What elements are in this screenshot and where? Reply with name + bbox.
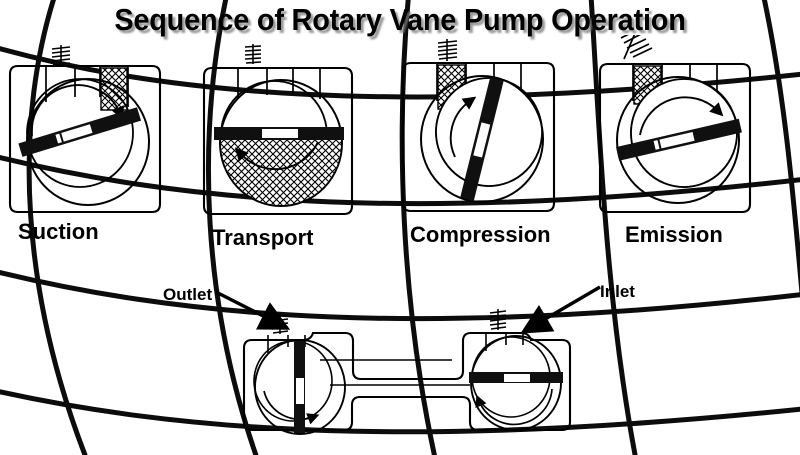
outlet-label: Outlet: [163, 285, 212, 305]
panel-compression: [403, 39, 554, 211]
panel-transport: [204, 44, 352, 214]
hatch-fill-icon: [218, 135, 346, 211]
pump-assembly-group: [0, 265, 800, 455]
vane: [214, 127, 344, 140]
rotation-arrow-icon: [479, 389, 552, 424]
spring-icon: [52, 45, 70, 66]
panel-emission: [600, 35, 750, 212]
vane: [294, 341, 305, 433]
panel-label-compression: Compression: [410, 222, 551, 248]
diagram-canvas: Sequence of Rotary Vane Pump Operation: [0, 0, 800, 455]
spring-icon: [272, 313, 288, 334]
spring-icon: [490, 309, 506, 330]
inlet-pointer-arrow-icon: [535, 287, 600, 325]
vane: [18, 107, 141, 157]
panel-label-transport: Transport: [212, 225, 313, 251]
page-title: Sequence of Rotary Vane Pump Operation: [28, 0, 772, 40]
panel-label-emission: Emission: [625, 222, 723, 248]
panel-label-suction: Suction: [18, 219, 99, 245]
spring-icon: [245, 44, 261, 64]
pump-stage-left: [254, 313, 345, 434]
inlet-label: Inlet: [600, 282, 635, 302]
vane: [469, 372, 563, 383]
panel-suction: [10, 45, 160, 212]
outlet-pointer-arrow-icon: [216, 292, 275, 322]
spring-icon: [438, 39, 457, 61]
pump-stage-right: [469, 309, 563, 430]
